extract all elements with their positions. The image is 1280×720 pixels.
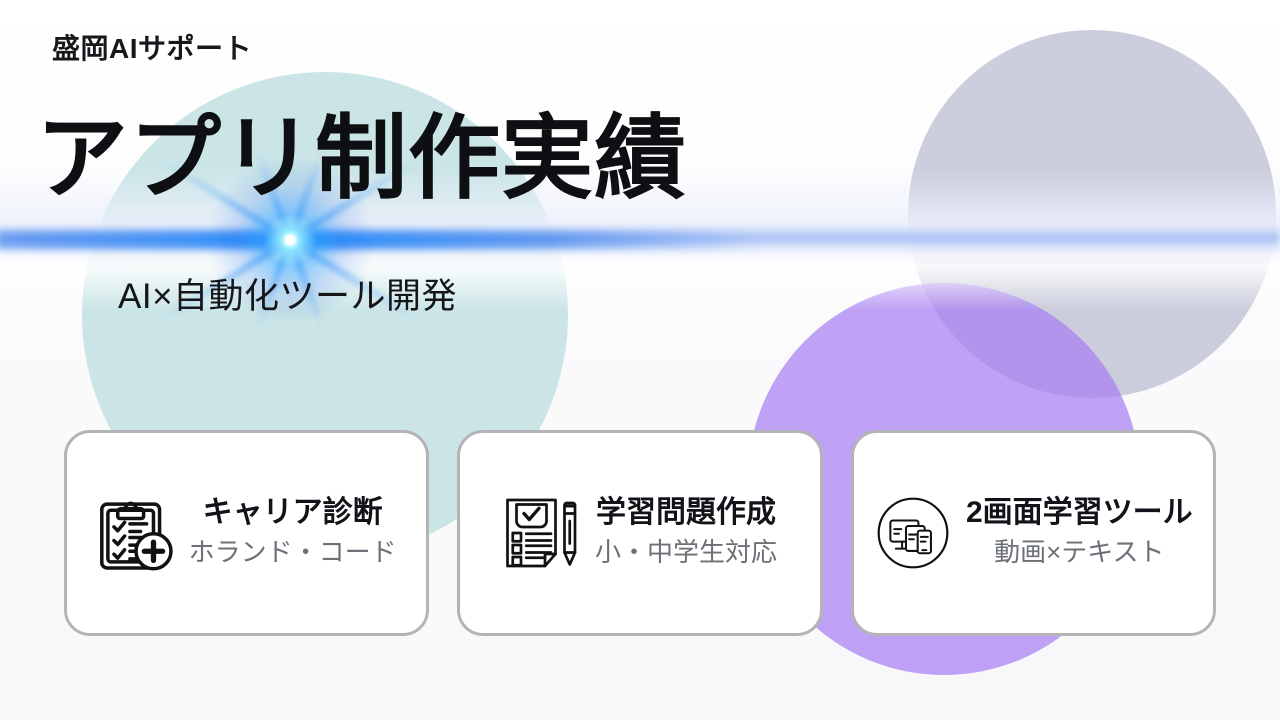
page-title: アプリ制作実績 xyxy=(36,113,687,205)
feature-card-text: 2画面学習ツール 動画×テキスト xyxy=(966,495,1193,570)
clipboard-checklist-plus-icon xyxy=(97,490,175,576)
feature-card-title: 学習問題作成 xyxy=(596,495,776,531)
feature-card-career-diagnosis[interactable]: キャリア診断 ホランド・コード xyxy=(64,430,429,636)
feature-card-text: キャリア診断 ホランド・コード xyxy=(189,495,397,570)
feature-card-title: キャリア診断 xyxy=(203,495,383,531)
feature-card-title: 2画面学習ツール xyxy=(966,495,1193,531)
slide-canvas: 盛岡AIサポート アプリ制作実績 AI×自動化ツール開発 xyxy=(0,0,1280,720)
feature-card-subtitle: ホランド・コード xyxy=(189,535,397,570)
feature-card-subtitle: 動画×テキスト xyxy=(994,535,1164,570)
feature-card-subtitle: 小・中学生対応 xyxy=(595,535,777,570)
page-subtitle: AI×自動化ツール開発 xyxy=(118,268,457,319)
feature-card-text: 学習問題作成 小・中学生対応 xyxy=(595,495,777,570)
brand-eyebrow: 盛岡AIサポート xyxy=(52,27,252,67)
worksheet-pencil-icon xyxy=(503,490,581,576)
multi-device-screens-icon xyxy=(874,490,952,576)
feature-card-dual-screen-tool[interactable]: 2画面学習ツール 動画×テキスト xyxy=(851,430,1216,636)
feature-card-worksheet-generation[interactable]: 学習問題作成 小・中学生対応 xyxy=(457,430,822,636)
feature-card-list: キャリア診断 ホランド・コード xyxy=(64,430,1216,636)
